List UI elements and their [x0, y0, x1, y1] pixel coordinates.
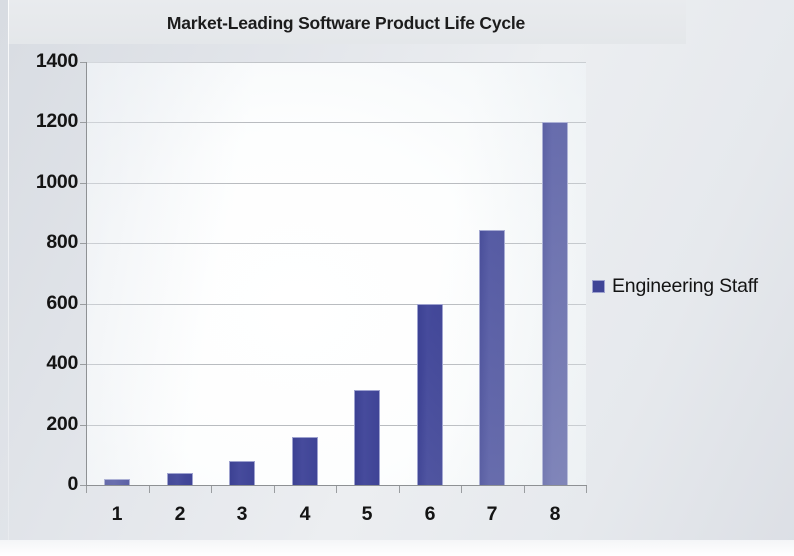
gridline	[86, 304, 586, 305]
legend: Engineering Staff	[592, 275, 758, 298]
y-axis-tick-label: 0	[6, 475, 78, 495]
bar	[229, 461, 255, 485]
y-axis-tick	[80, 122, 86, 123]
y-axis-tick	[80, 304, 86, 305]
y-axis-tick-label: 800	[6, 233, 78, 253]
legend-square-swatch-icon	[592, 280, 605, 293]
gridline	[86, 122, 586, 123]
bar	[479, 230, 505, 485]
x-axis-tick-label: 2	[160, 505, 200, 525]
y-axis-tick-label: 1200	[6, 112, 78, 132]
x-axis-tick-label: 5	[347, 505, 387, 525]
x-axis-tick	[586, 486, 587, 493]
x-axis-tick	[274, 486, 275, 493]
y-axis-tick-label: 1400	[6, 52, 78, 72]
y-axis-tick-label: 400	[6, 354, 78, 374]
y-axis-tick	[80, 243, 86, 244]
x-axis-tick-label: 1	[97, 505, 137, 525]
gridline	[86, 425, 586, 426]
x-axis-tick-label: 6	[410, 505, 450, 525]
y-axis-tick	[80, 485, 86, 486]
y-axis-tick	[80, 364, 86, 365]
y-axis-line	[86, 62, 87, 486]
y-axis-tick-label: 200	[6, 415, 78, 435]
x-axis-tick-label: 7	[472, 505, 512, 525]
x-axis-tick	[149, 486, 150, 493]
x-axis-tick-label: 8	[535, 505, 575, 525]
bar	[354, 390, 380, 485]
gridline	[86, 364, 586, 365]
x-axis-tick	[524, 486, 525, 493]
gridline	[86, 183, 586, 184]
plot-area	[86, 62, 586, 485]
chart-title: Market-Leading Software Product Life Cyc…	[90, 13, 602, 34]
plate-bottom-edge	[0, 540, 794, 556]
y-axis-tick-labels: 1400120010008006004002000	[0, 0, 78, 556]
x-axis-tick	[86, 486, 87, 493]
plot-gradient-overlay	[86, 62, 586, 485]
y-axis-tick-label: 1000	[6, 173, 78, 193]
x-axis-tick	[399, 486, 400, 493]
x-axis-tick	[336, 486, 337, 493]
chart-canvas: Market-Leading Software Product Life Cyc…	[0, 0, 794, 556]
y-axis-tick-label: 600	[6, 294, 78, 314]
y-axis-tick	[80, 183, 86, 184]
x-axis-tick	[211, 486, 212, 493]
bar	[167, 473, 193, 485]
y-axis-tick	[80, 62, 86, 63]
bar	[417, 304, 443, 485]
legend-item-label: Engineering Staff	[612, 275, 758, 298]
bar	[292, 437, 318, 485]
gridline	[86, 243, 586, 244]
x-axis-tick-label: 4	[285, 505, 325, 525]
y-axis-tick	[80, 425, 86, 426]
x-axis-tick	[461, 486, 462, 493]
gridline	[86, 62, 586, 63]
x-axis-tick-label: 3	[222, 505, 262, 525]
bar	[542, 122, 568, 485]
